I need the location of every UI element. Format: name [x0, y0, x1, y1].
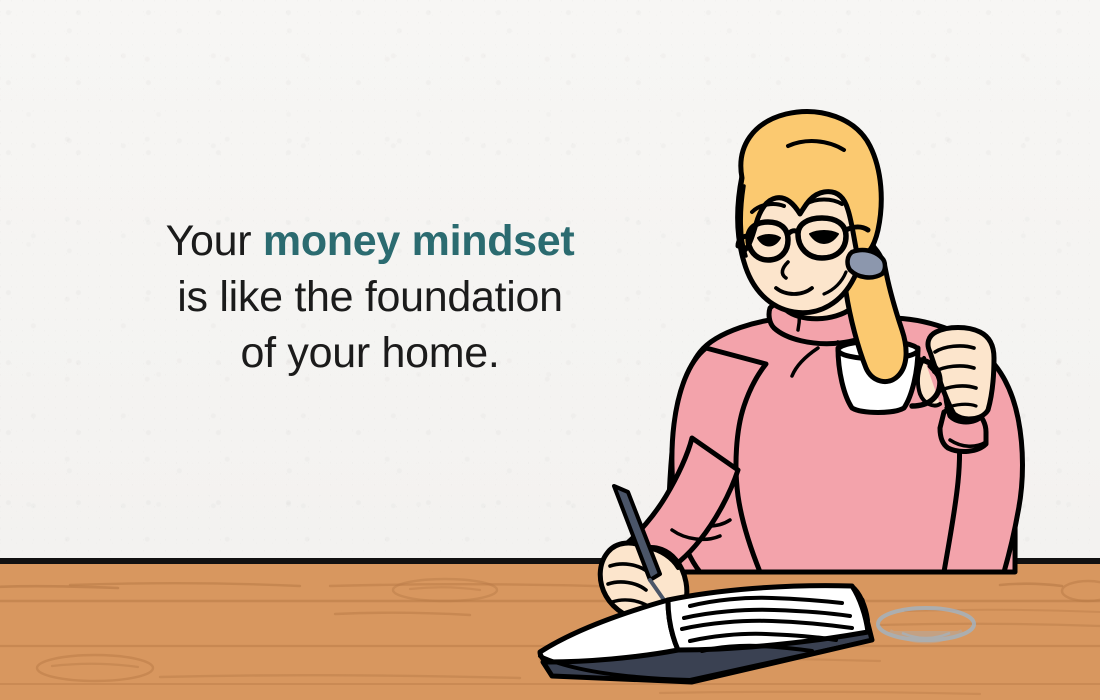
illustration-svg	[0, 0, 1100, 700]
illustration-scene: Your money mindset is like the foundatio…	[0, 0, 1100, 700]
woman-character	[600, 112, 1022, 623]
wood-table	[0, 558, 1100, 700]
hair-tie	[848, 250, 885, 277]
